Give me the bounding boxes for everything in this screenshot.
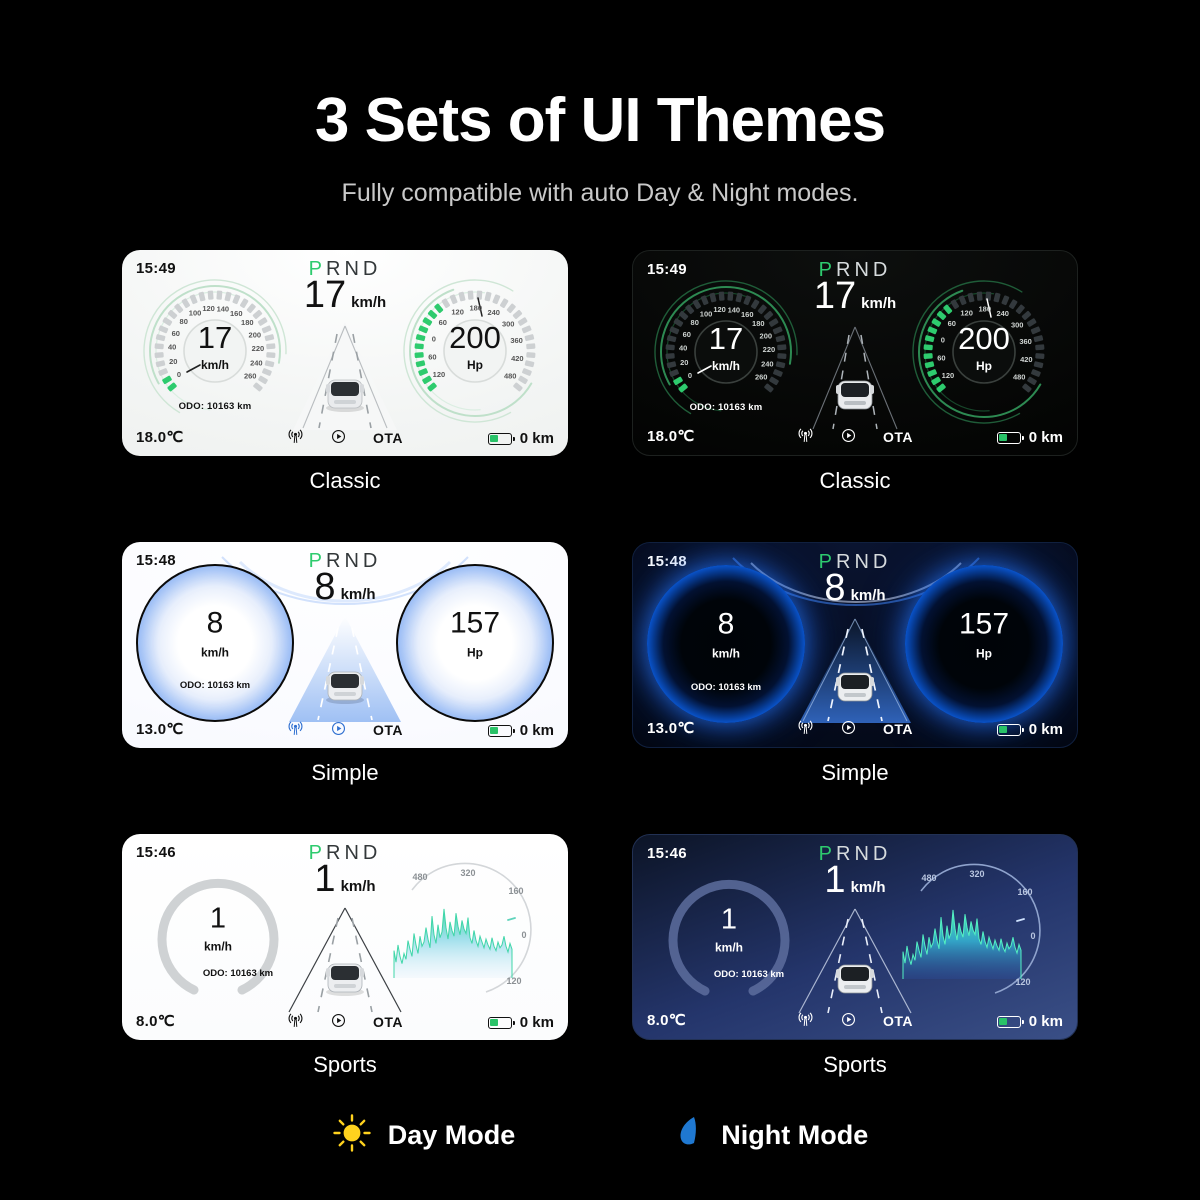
center-speed-value: 17 [304, 276, 346, 314]
theme-label: Sports [122, 1052, 568, 1078]
theme-label: Sports [632, 1052, 1078, 1078]
svg-text:100: 100 [700, 309, 713, 318]
power-unit: Hp [398, 645, 552, 659]
ota-label[interactable]: OTA [883, 429, 913, 445]
speed-readout: 1 km/h [152, 904, 284, 953]
speed-value: 17 [140, 322, 290, 353]
media-icon[interactable] [330, 720, 347, 740]
speed-unit: km/h [152, 939, 284, 953]
moon-icon [665, 1113, 705, 1158]
center-speed-value: 8 [824, 569, 845, 607]
speed-unit: km/h [647, 646, 805, 660]
speed-readout: 17 km/h [651, 323, 801, 373]
svg-text:0: 0 [1030, 931, 1035, 941]
power-unit: Hp [400, 358, 550, 372]
theme-cell-simple-night[interactable]: 15:48 PRND 8 km/h ODO: 10163 km 157 Hp [632, 542, 1078, 786]
svg-text:320: 320 [460, 868, 475, 878]
speed-readout: 17 km/h [140, 322, 290, 372]
svg-text:120: 120 [713, 305, 726, 314]
power-histogram: 4803201600120 [899, 861, 1063, 1011]
svg-text:480: 480 [921, 873, 936, 883]
power-readout: 200 Hp [909, 323, 1059, 373]
power-gauge: 157 Hp [905, 565, 1063, 723]
mode-legend: Day Mode Night Mode [0, 1113, 1200, 1158]
car-icon [326, 964, 364, 996]
ota-label[interactable]: OTA [883, 721, 913, 737]
svg-text:160: 160 [230, 309, 243, 318]
range-indicator: 0 km [488, 722, 554, 739]
svg-text:480: 480 [412, 872, 427, 882]
battery-icon [488, 725, 512, 737]
odometer: ODO: 10163 km [647, 682, 805, 693]
road-view [285, 322, 405, 430]
center-speed-unit: km/h [861, 295, 896, 312]
range-value: 0 km [520, 430, 554, 447]
range-value: 0 km [1029, 721, 1063, 738]
svg-text:320: 320 [969, 869, 984, 879]
range-value: 0 km [1029, 1013, 1063, 1030]
center-speed: 8 km/h [314, 568, 375, 606]
signal-icon[interactable] [797, 719, 814, 739]
speed-value: 1 [152, 904, 284, 933]
car-icon [836, 673, 874, 701]
theme-row-simple: 15:48 PRND 8 km/h ODO: 10163 km 157 Hp [0, 542, 1200, 786]
odometer: ODO: 10163 km [651, 402, 801, 413]
signal-icon[interactable] [797, 427, 814, 447]
center-speed: 1 km/h [824, 861, 885, 899]
car-icon [836, 381, 874, 409]
center-speed-value: 1 [314, 860, 335, 898]
power-gauge: 157 Hp [396, 564, 554, 722]
svg-text:100: 100 [189, 308, 202, 317]
theme-cell-sports-day[interactable]: 15:46 PRND 1 km/h ODO: 10163 km 1 [122, 834, 568, 1078]
speed-unit: km/h [663, 940, 795, 954]
svg-text:240: 240 [487, 308, 500, 317]
power-readout: 157 Hp [398, 608, 552, 659]
svg-text:140: 140 [728, 305, 741, 314]
sun-icon [332, 1113, 372, 1158]
center-speed: 17 km/h [304, 276, 386, 314]
center-speed-unit: km/h [851, 587, 886, 604]
media-icon[interactable] [840, 427, 857, 447]
speedometer-gauge: 8 km/h ODO: 10163 km [647, 565, 805, 723]
range-indicator: 0 km [997, 1013, 1063, 1030]
battery-icon [997, 1016, 1021, 1028]
cluster-panel-classic-day[interactable]: 15:49 PRND 020406080 [122, 250, 568, 456]
temperature: 8.0℃ [647, 1011, 686, 1029]
svg-text:120: 120 [960, 308, 973, 317]
power-readout: 157 Hp [905, 609, 1063, 660]
speedometer-gauge: 1 km/h ODO: 10163 km [152, 868, 284, 1000]
car-icon [836, 965, 874, 993]
cluster-panel-simple-day[interactable]: 15:48 PRND 8 km/h ODO: 10163 km 157 Hp [122, 542, 568, 748]
theme-cell-classic-night[interactable]: 15:49 PRND 020406080100120140 [632, 250, 1078, 494]
odometer: ODO: 10163 km [138, 680, 292, 691]
car-icon [326, 672, 364, 704]
speed-unit: km/h [140, 358, 290, 372]
theme-label: Classic [122, 468, 568, 494]
range-value: 0 km [520, 722, 554, 739]
range-indicator: 0 km [488, 430, 554, 447]
temperature: 18.0℃ [647, 427, 695, 445]
signal-icon[interactable] [287, 720, 304, 740]
media-icon[interactable] [840, 1011, 857, 1031]
power-unit: Hp [905, 646, 1063, 660]
range-value: 0 km [520, 1014, 554, 1031]
range-value: 0 km [1029, 429, 1063, 446]
speedometer-gauge: 020406080100120140160180200220240260 17 … [140, 276, 290, 426]
svg-text:0: 0 [521, 930, 526, 940]
speed-value: 1 [663, 905, 795, 934]
speed-unit: km/h [138, 645, 292, 659]
page-header: 3 Sets of UI Themes Fully compatible wit… [0, 0, 1200, 208]
media-icon[interactable] [840, 719, 857, 739]
road-view [285, 906, 405, 1014]
speed-value: 17 [651, 323, 801, 354]
speed-readout: 8 km/h [138, 608, 292, 659]
cluster-panel-classic-night[interactable]: 15:49 PRND 020406080100120140 [632, 250, 1078, 456]
theme-grid: 15:49 PRND 020406080 [0, 250, 1200, 1126]
battery-icon [997, 432, 1021, 444]
battery-icon [488, 1017, 512, 1029]
battery-icon [997, 724, 1021, 736]
power-readout: 200 Hp [400, 322, 550, 372]
page-subtitle: Fully compatible with auto Day & Night m… [0, 179, 1200, 208]
legend-day-mode: Day Mode [332, 1113, 516, 1158]
page-title: 3 Sets of UI Themes [0, 88, 1200, 153]
ota-label[interactable]: OTA [373, 430, 403, 446]
center-speed: 1 km/h [314, 860, 375, 898]
cluster-panel-sports-night[interactable]: 15:46 PRND 1 km/h ODO: 10163 km 1 [632, 834, 1078, 1040]
road-view [795, 323, 915, 431]
center-speed: 17 km/h [814, 277, 896, 315]
svg-text:260: 260 [244, 371, 257, 380]
legend-day-label: Day Mode [388, 1120, 516, 1151]
theme-row-sports: 15:46 PRND 1 km/h ODO: 10163 km 1 [0, 834, 1200, 1078]
power-unit: Hp [909, 359, 1059, 373]
road-view [285, 614, 405, 722]
svg-text:120: 120 [451, 307, 464, 316]
svg-text:160: 160 [741, 310, 754, 319]
signal-icon[interactable] [287, 1012, 304, 1032]
center-speed-unit: km/h [341, 586, 376, 603]
center-speed-value: 8 [314, 568, 335, 606]
range-indicator: 0 km [997, 429, 1063, 446]
temperature: 18.0℃ [136, 428, 184, 446]
svg-text:180: 180 [978, 305, 991, 314]
power-value: 157 [398, 608, 552, 638]
media-icon[interactable] [330, 428, 347, 448]
media-icon[interactable] [330, 1012, 347, 1032]
center-speed-value: 1 [824, 861, 845, 899]
power-value: 200 [909, 323, 1059, 354]
odometer: ODO: 10163 km [140, 401, 290, 412]
speed-value: 8 [647, 609, 805, 639]
ota-label[interactable]: OTA [883, 1013, 913, 1029]
svg-text:180: 180 [469, 304, 482, 313]
theme-label: Simple [122, 760, 568, 786]
speedometer-gauge: 1 km/h ODO: 10163 km [663, 869, 795, 1001]
road-view [795, 615, 915, 723]
theme-cell-simple-day[interactable]: 15:48 PRND 8 km/h ODO: 10163 km 157 Hp [122, 542, 568, 786]
center-speed-unit: km/h [351, 294, 386, 311]
temperature: 13.0℃ [136, 720, 184, 738]
power-value: 200 [400, 322, 550, 353]
speedometer-gauge: 8 km/h ODO: 10163 km [136, 564, 294, 722]
svg-text:260: 260 [755, 372, 768, 381]
theme-cell-sports-night[interactable]: 15:46 PRND 1 km/h ODO: 10163 km 1 [632, 834, 1078, 1078]
range-indicator: 0 km [488, 1014, 554, 1031]
cluster-panel-simple-night[interactable]: 15:48 PRND 8 km/h ODO: 10163 km 157 Hp [632, 542, 1078, 748]
center-speed-value: 17 [814, 277, 856, 315]
temperature: 8.0℃ [136, 1012, 175, 1030]
speed-readout: 8 km/h [647, 609, 805, 660]
speed-readout: 1 km/h [663, 905, 795, 954]
road-view [795, 907, 915, 1015]
power-value: 157 [905, 609, 1063, 639]
theme-label: Classic [632, 468, 1078, 494]
svg-text:160: 160 [508, 886, 523, 896]
theme-cell-classic-day[interactable]: 15:49 PRND 020406080 [122, 250, 568, 494]
ota-label[interactable]: OTA [373, 1014, 403, 1030]
speed-value: 8 [138, 608, 292, 638]
svg-text:120: 120 [506, 976, 521, 986]
car-icon [326, 380, 364, 412]
ota-label[interactable]: OTA [373, 722, 403, 738]
temperature: 13.0℃ [647, 719, 695, 737]
theme-row-classic: 15:49 PRND 020406080 [0, 250, 1200, 494]
svg-text:120: 120 [202, 304, 215, 313]
center-speed-unit: km/h [851, 879, 886, 896]
center-speed-unit: km/h [341, 878, 376, 895]
svg-text:240: 240 [996, 309, 1009, 318]
svg-text:160: 160 [1017, 887, 1032, 897]
power-gauge: 12060060120180240300360420480 200 Hp [400, 276, 550, 426]
svg-text:480: 480 [504, 371, 517, 380]
svg-text:140: 140 [217, 304, 230, 313]
speed-unit: km/h [651, 359, 801, 373]
svg-text:120: 120 [1015, 977, 1030, 987]
speedometer-gauge: 020406080100120140160180200220240260 17 … [651, 277, 801, 427]
cluster-panel-sports-day[interactable]: 15:46 PRND 1 km/h ODO: 10163 km 1 [122, 834, 568, 1040]
power-gauge: 12060060120180240300360420480 200 Hp [909, 277, 1059, 427]
range-indicator: 0 km [997, 721, 1063, 738]
legend-night-mode: Night Mode [665, 1113, 868, 1158]
signal-icon[interactable] [797, 1011, 814, 1031]
legend-night-label: Night Mode [721, 1120, 868, 1151]
theme-label: Simple [632, 760, 1078, 786]
signal-icon[interactable] [287, 428, 304, 448]
power-histogram: 4803201600120 [390, 860, 554, 1010]
battery-icon [488, 433, 512, 445]
center-speed: 8 km/h [824, 569, 885, 607]
svg-text:480: 480 [1013, 372, 1026, 381]
